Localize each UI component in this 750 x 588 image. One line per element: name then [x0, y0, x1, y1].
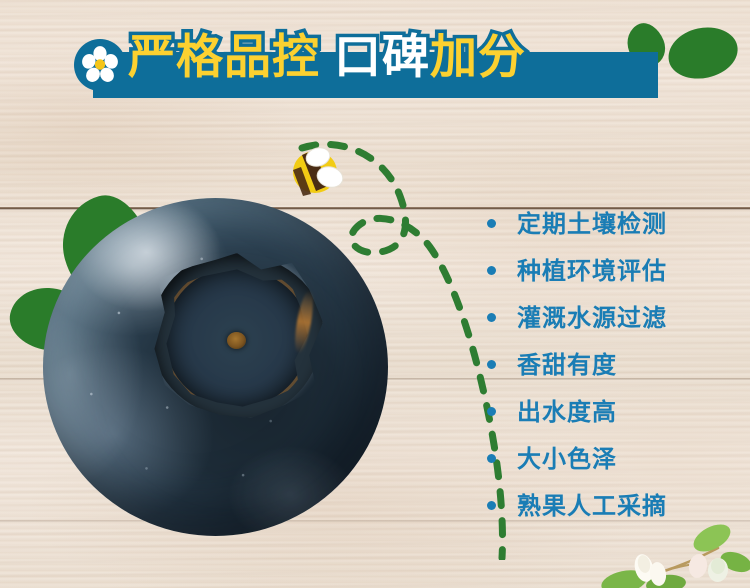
feature-label: 种植环境评估: [517, 259, 667, 283]
bullet-dot-icon: [487, 266, 496, 275]
feature-label: 熟果人工采摘: [517, 494, 667, 518]
title-segment-2: 口碑: [334, 34, 430, 81]
bullet-dot-icon: [487, 360, 496, 369]
bullet-dot-icon: [487, 407, 496, 416]
bullet-dot-icon: [487, 501, 496, 510]
flower-badge: [74, 39, 126, 91]
list-item: 定期土壤检测: [487, 200, 737, 247]
blueberry-blossom-sprig-icon: [600, 520, 750, 588]
promo-banner-stage: 严格品控 口碑 加分 定期土壤检测 种植环境评估 灌溉水源过滤 香甜有度 出水度…: [0, 0, 750, 588]
list-item: 香甜有度: [487, 341, 737, 388]
list-item: 出水度高: [487, 388, 737, 435]
title-segment-1: 严格品控: [128, 34, 320, 81]
page-title: 严格品控 口碑 加分: [128, 24, 526, 90]
title-segment-3: 加分: [430, 34, 526, 81]
bullet-dot-icon: [487, 454, 496, 463]
feature-label: 出水度高: [517, 400, 617, 424]
feature-list: 定期土壤检测 种植环境评估 灌溉水源过滤 香甜有度 出水度高 大小色泽 熟果人工…: [487, 200, 737, 529]
blueberry-calyx-center: [227, 332, 246, 349]
list-item: 灌溉水源过滤: [487, 294, 737, 341]
bullet-dot-icon: [487, 219, 496, 228]
flower-icon: [81, 46, 119, 84]
bullet-dot-icon: [487, 313, 496, 322]
list-item: 种植环境评估: [487, 247, 737, 294]
feature-label: 香甜有度: [517, 353, 617, 377]
feature-label: 灌溉水源过滤: [517, 306, 667, 330]
feature-label: 大小色泽: [517, 447, 617, 471]
feature-label: 定期土壤检测: [517, 212, 667, 236]
list-item: 大小色泽: [487, 435, 737, 482]
bee-icon: [288, 146, 350, 198]
